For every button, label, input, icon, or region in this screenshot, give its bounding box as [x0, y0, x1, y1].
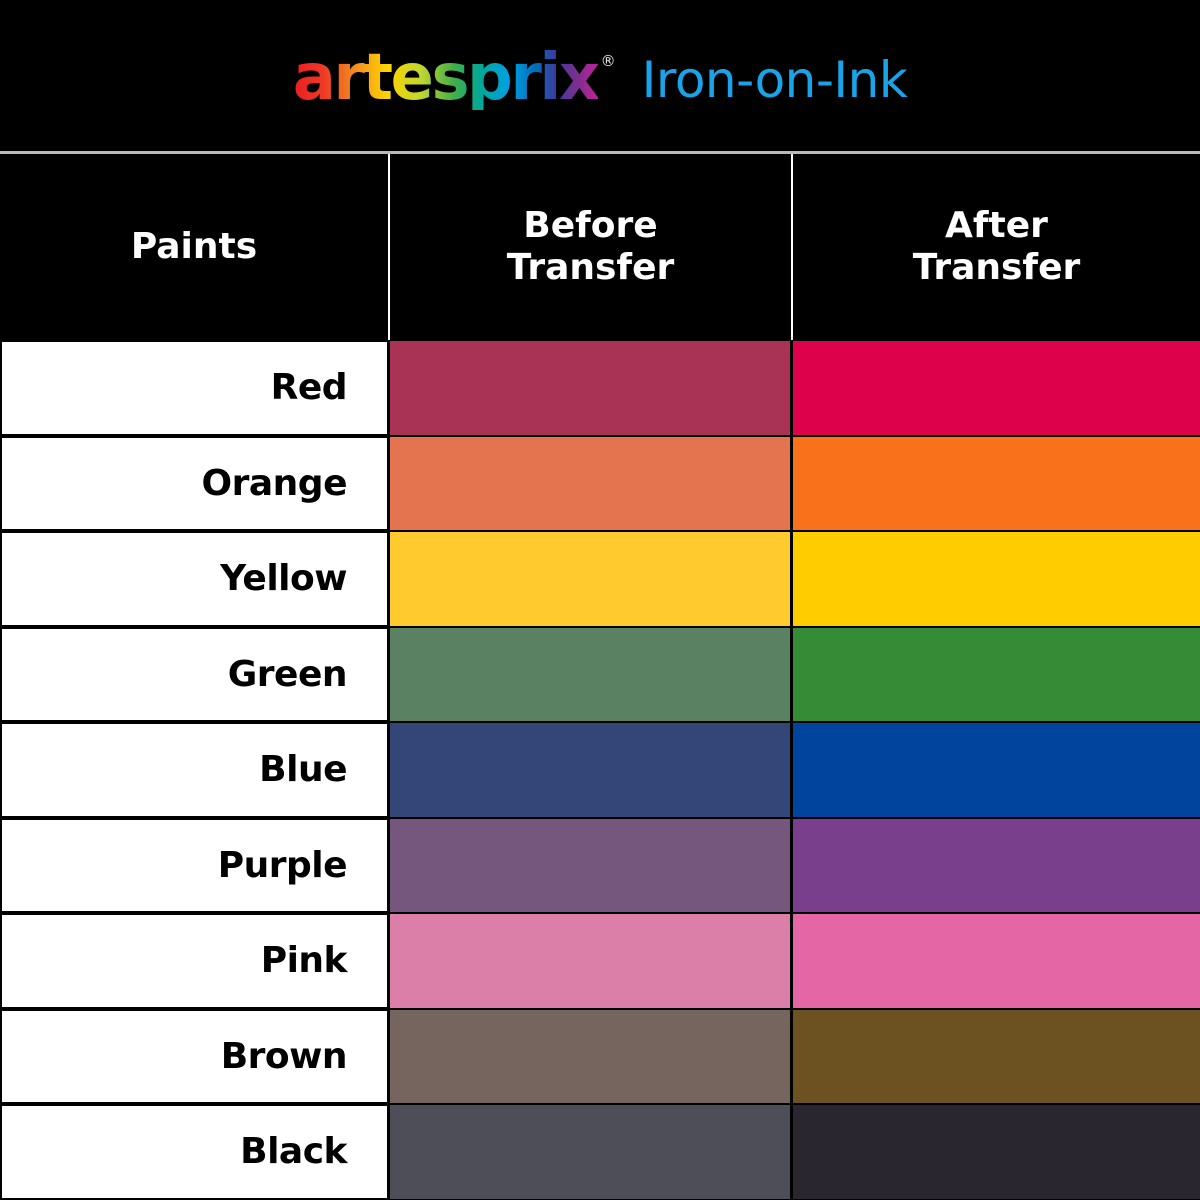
column-header-paints-label: Paints — [131, 226, 257, 268]
swatch-after-transfer — [793, 436, 1200, 532]
before-line-1: Before — [523, 205, 657, 246]
column-header-after-transfer: After Transfer — [793, 154, 1200, 340]
page-root: artesprix ® Iron-on-Ink Paints Before Tr… — [0, 0, 1200, 1200]
table-row: Purple — [0, 818, 1200, 914]
column-header-before-transfer-label: Before Transfer — [507, 205, 675, 290]
table-row: Red — [0, 340, 1200, 436]
table-row: Pink — [0, 913, 1200, 1009]
swatch-after-transfer — [793, 913, 1200, 1009]
table-row: Green — [0, 627, 1200, 723]
column-header-before-transfer: Before Transfer — [390, 154, 793, 340]
swatch-before-transfer — [390, 1104, 793, 1200]
swatch-before-transfer — [390, 436, 793, 532]
after-line-2: Transfer — [913, 247, 1081, 288]
table-header-row: Paints Before Transfer After Transfer — [0, 154, 1200, 340]
swatch-before-transfer — [390, 722, 793, 818]
swatch-before-transfer — [390, 627, 793, 723]
before-line-2: Transfer — [507, 247, 675, 288]
paint-name-cell: Brown — [0, 1009, 390, 1105]
paint-name-cell: Blue — [0, 722, 390, 818]
paint-name-cell: Pink — [0, 913, 390, 1009]
brand-header: artesprix ® Iron-on-Ink — [0, 0, 1200, 152]
paints-comparison-table: Paints Before Transfer After Transfer Re… — [0, 154, 1200, 1200]
logo-wordmark: artesprix — [293, 46, 598, 110]
swatch-before-transfer — [390, 1009, 793, 1105]
swatch-before-transfer — [390, 531, 793, 627]
table-row: Blue — [0, 722, 1200, 818]
swatch-after-transfer — [793, 818, 1200, 914]
registered-trademark-icon: ® — [601, 54, 616, 69]
after-line-1: After — [945, 205, 1048, 246]
swatch-after-transfer — [793, 1009, 1200, 1105]
paint-name-cell: Red — [0, 340, 390, 436]
swatch-after-transfer — [793, 531, 1200, 627]
table-row: Brown — [0, 1009, 1200, 1105]
swatch-after-transfer — [793, 340, 1200, 436]
table-body: RedOrangeYellowGreenBluePurplePinkBrownB… — [0, 340, 1200, 1200]
table-row: Yellow — [0, 531, 1200, 627]
tagline-iron-on-ink: Iron-on-Ink — [642, 55, 908, 105]
paint-name-cell: Yellow — [0, 531, 390, 627]
swatch-before-transfer — [390, 913, 793, 1009]
swatch-before-transfer — [390, 340, 793, 436]
table-row: Black — [0, 1104, 1200, 1200]
paint-name-cell: Purple — [0, 818, 390, 914]
table-row: Orange — [0, 436, 1200, 532]
column-header-paints: Paints — [0, 154, 390, 340]
column-header-after-transfer-label: After Transfer — [913, 205, 1081, 290]
swatch-before-transfer — [390, 818, 793, 914]
swatch-after-transfer — [793, 1104, 1200, 1200]
swatch-after-transfer — [793, 627, 1200, 723]
paint-name-cell: Green — [0, 627, 390, 723]
artesprix-logo: artesprix ® — [293, 46, 616, 110]
paint-name-cell: Black — [0, 1104, 390, 1200]
paint-name-cell: Orange — [0, 436, 390, 532]
swatch-after-transfer — [793, 722, 1200, 818]
